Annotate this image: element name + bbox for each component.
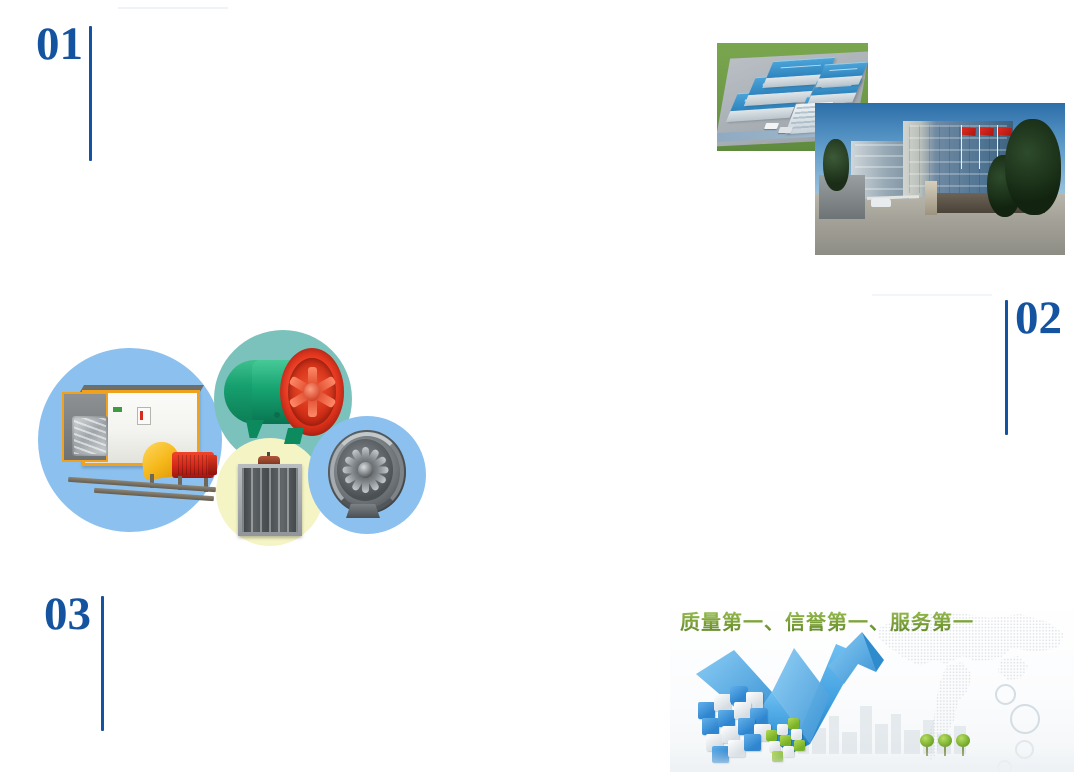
cabinet-control-panel: [137, 407, 151, 425]
photo-tree: [823, 139, 849, 191]
cabinet-inlet-opening: [62, 392, 108, 462]
hairline-top: [118, 7, 228, 9]
company-slogan-banner: 质量第一、信誉第一、服务第一: [670, 600, 1074, 772]
section-rule-01: [89, 26, 92, 161]
fan-wheel: [72, 416, 108, 456]
cabinet-label: [113, 407, 122, 412]
red-flag-icon: [980, 127, 994, 136]
motor-end-cap: [208, 455, 217, 475]
section-marker-01: 01: [36, 22, 92, 161]
product-image-cluster: [36, 330, 426, 550]
product-cabinet-centrifugal-fan: [58, 382, 222, 508]
photo-parked-car: [871, 198, 891, 207]
red-flag-icon: [962, 127, 976, 136]
impeller-shroud: [328, 430, 406, 514]
impeller-face: [337, 439, 393, 501]
casing-port: [274, 412, 280, 418]
fan-inlet-bore: [288, 358, 336, 426]
section-rule-02: [1005, 300, 1008, 435]
damper-blades: [242, 468, 298, 532]
section-number-01: 01: [36, 22, 83, 67]
render-truck: [764, 123, 779, 129]
fan-mount-foot: [284, 428, 304, 444]
section-rule-03: [101, 596, 104, 731]
blue-cube-cluster-icon: [698, 684, 774, 756]
impeller-hub: [358, 462, 373, 478]
office-building-photo: [815, 103, 1065, 255]
banner-reflection: [670, 750, 1074, 772]
section-marker-02: 02: [1005, 296, 1062, 435]
section-marker-03: 03: [44, 592, 104, 731]
impeller-mount-foot: [346, 504, 380, 518]
damper-frame: [238, 464, 302, 536]
section-number-03: 03: [44, 592, 91, 637]
hairline-mid: [872, 294, 992, 296]
section-number-02: 02: [1015, 296, 1062, 341]
bubble-circle-icon: [1010, 704, 1040, 734]
photo-gate-pillar: [925, 181, 937, 215]
product-air-volume-damper: [232, 454, 310, 540]
product-aluminium-impeller: [320, 426, 422, 522]
flag-pole: [961, 125, 962, 169]
fan-mount-foot: [246, 420, 264, 438]
slide-canvas: 01 02: [0, 0, 1074, 772]
render-truck: [778, 127, 793, 133]
fan-inlet-ring-red: [280, 348, 344, 436]
fan-hub: [304, 383, 320, 401]
flag-pole: [979, 125, 980, 169]
photo-tree: [1005, 119, 1061, 215]
base-frame-rail: [68, 477, 216, 492]
bubble-circle-icon: [995, 684, 1016, 705]
